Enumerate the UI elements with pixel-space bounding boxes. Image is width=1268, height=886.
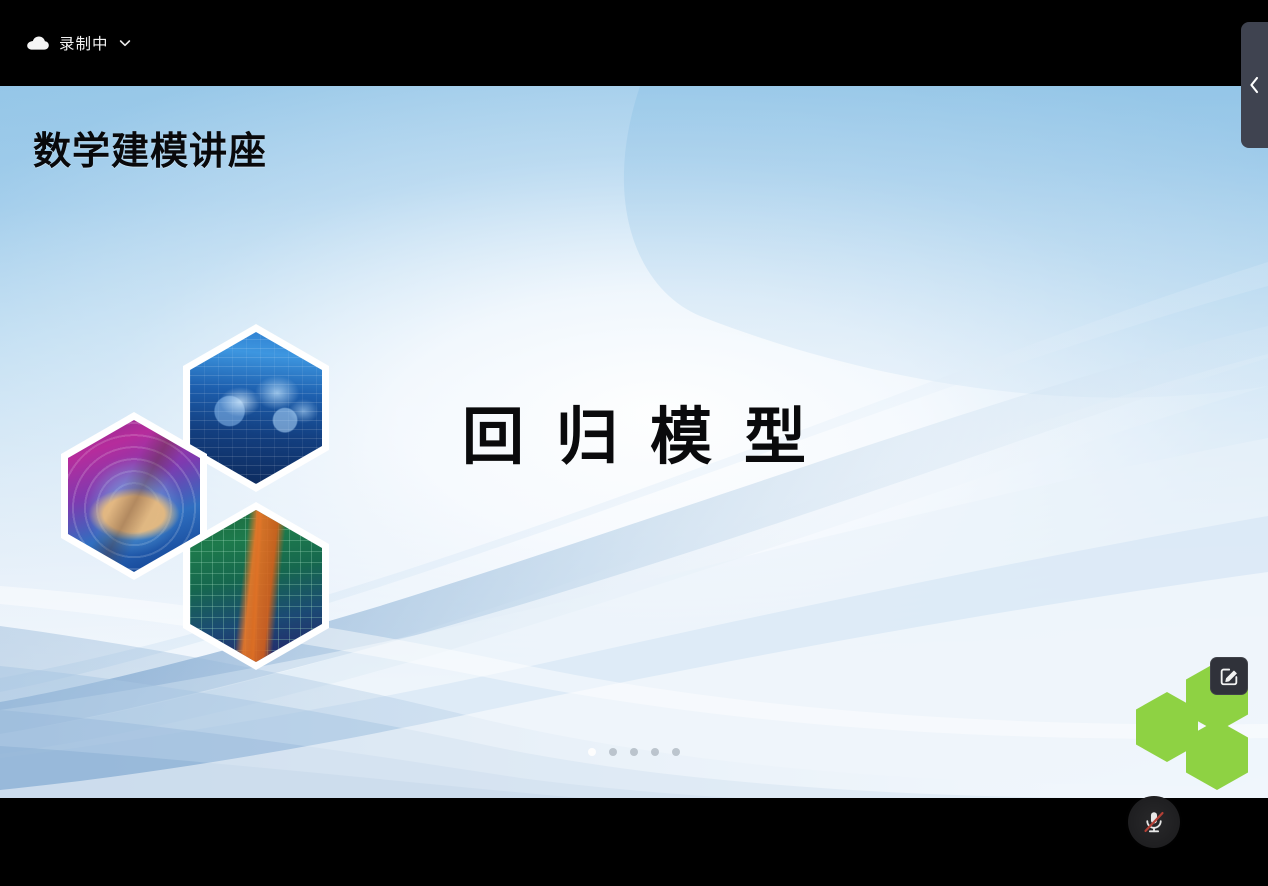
pagination-dot-4[interactable] bbox=[651, 748, 659, 756]
microphone-button[interactable] bbox=[1128, 796, 1180, 848]
recording-status-menu[interactable]: 录制中 bbox=[20, 28, 138, 58]
microphone-muted-icon bbox=[1141, 809, 1167, 835]
pagination-dot-1[interactable] bbox=[588, 748, 596, 756]
pencil-square-icon bbox=[1218, 665, 1240, 687]
top-recording-bar: 录制中 bbox=[0, 0, 1268, 86]
annotate-button[interactable] bbox=[1210, 657, 1248, 695]
slide-canvas[interactable]: 数学建模讲座 回归模型 bbox=[0, 86, 1268, 798]
hexagon-image-cluster bbox=[18, 324, 378, 684]
pagination-dot-3[interactable] bbox=[630, 748, 638, 756]
slide-heading: 数学建模讲座 bbox=[33, 120, 267, 175]
pagination-dot-2[interactable] bbox=[609, 748, 617, 756]
slide-pagination[interactable] bbox=[0, 748, 1268, 756]
chevron-down-icon[interactable] bbox=[118, 36, 132, 50]
screen-root: 录制中 bbox=[0, 0, 1268, 886]
side-panel-toggle[interactable] bbox=[1241, 22, 1268, 148]
recording-status-label: 录制中 bbox=[59, 32, 109, 54]
chevron-left-icon bbox=[1248, 75, 1261, 95]
pagination-dot-5[interactable] bbox=[672, 748, 680, 756]
cloud-icon bbox=[26, 35, 50, 51]
